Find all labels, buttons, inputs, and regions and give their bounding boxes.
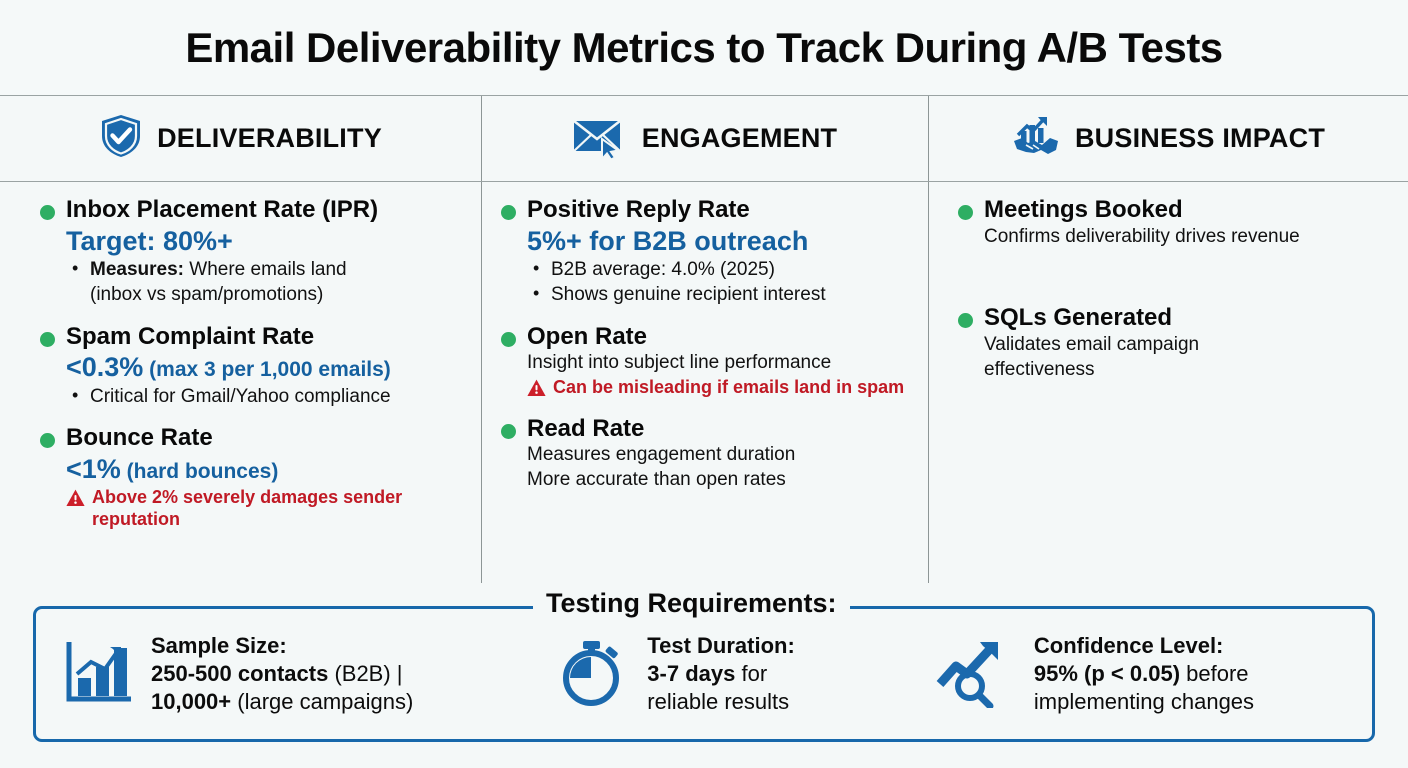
metric-value-note: (max 3 per 1,000 emails) [143,358,390,381]
metric-sub-text: Where emails land [184,259,347,280]
metric-title: Inbox Placement Rate (IPR) [66,196,463,224]
requirement-line1-bold: 95% (p < 0.05) [1034,661,1180,686]
metric-title: Open Rate [527,323,912,351]
column-deliverability: DELIVERABILITY Inbox Placement Rate (IPR… [0,96,481,583]
column-header-engagement: ENGAGEMENT [481,96,928,181]
column-body-deliverability: Inbox Placement Rate (IPR) Target: 80%+ … [0,182,481,531]
bar-chart-growth-icon [61,636,135,713]
metric-sub: Measures: Where emails land [66,259,463,282]
requirement-test-duration: Test Duration: 3-7 days for reliable res… [555,632,936,715]
metric-item: Inbox Placement Rate (IPR) Target: 80%+ … [40,196,463,307]
metric-item: Bounce Rate <1% (hard bounces) Above 2% … [40,424,463,530]
warning-triangle-icon [527,379,546,397]
metric-item: Open Rate Insight into subject line perf… [501,323,912,399]
requirement-line1-rest: (B2B) | [328,661,402,686]
metric-sub: Shows genuine recipient interest [527,284,912,307]
metric-sub: Measures engagement duration [527,444,912,467]
bullet-dot-icon [40,205,55,220]
metric-sub: Validates email campaign [984,334,1392,357]
column-business-impact: BUSINESS IMPACT Meetings Booked Confirms… [928,96,1408,583]
column-body-engagement: Positive Reply Rate 5%+ for B2B outreach… [481,182,928,492]
requirement-confidence-level: Confidence Level: 95% (p < 0.05) before … [936,632,1361,715]
panel-content: Sample Size: 250-500 contacts (B2B) | 10… [33,606,1375,742]
envelope-cursor-icon [572,113,628,164]
requirement-line1-rest: before [1180,661,1249,686]
requirement-line1-rest: for [735,661,767,686]
bullet-dot-icon [501,205,516,220]
requirement-heading: Confidence Level: [1034,632,1254,660]
metric-warning-text: Above 2% severely damages sender reputat… [92,487,463,530]
metric-item: Read Rate Measures engagement duration M… [501,415,912,492]
warning-triangle-icon [66,489,85,507]
metric-value: Target: 80%+ [66,225,463,257]
requirement-text: Sample Size: 250-500 contacts (B2B) | 10… [151,632,413,715]
metric-title: Positive Reply Rate [527,196,912,224]
metric-warning-text: Can be misleading if emails land in spam [553,377,904,399]
trend-magnifier-icon [936,636,1018,713]
metric-title: Bounce Rate [66,424,463,452]
bullet-dot-icon [958,205,973,220]
metric-title: Meetings Booked [984,196,1392,224]
metrics-columns: DELIVERABILITY Inbox Placement Rate (IPR… [0,96,1408,583]
requirement-line2-rest: implementing changes [1034,689,1254,714]
metric-value: <0.3% (max 3 per 1,000 emails) [66,351,463,383]
column-header-label: BUSINESS IMPACT [1075,123,1325,154]
requirement-text: Confidence Level: 95% (p < 0.05) before … [1034,632,1254,715]
column-body-business-impact: Meetings Booked Confirms deliverability … [928,182,1408,382]
bullet-dot-icon [40,332,55,347]
column-header-business-impact: BUSINESS IMPACT [928,96,1408,181]
metric-warning: Above 2% severely damages sender reputat… [66,487,463,530]
requirement-line1-bold: 250-500 contacts [151,661,328,686]
metric-title: SQLs Generated [984,304,1392,332]
page-header: Email Deliverability Metrics to Track Du… [0,0,1408,95]
column-header-label: ENGAGEMENT [642,123,838,154]
metric-item: Positive Reply Rate 5%+ for B2B outreach… [501,196,912,307]
requirement-heading: Sample Size: [151,632,413,660]
page-title: Email Deliverability Metrics to Track Du… [185,27,1222,69]
metric-item: Meetings Booked Confirms deliverability … [958,196,1392,248]
metric-sub: (inbox vs spam/promotions) [66,284,463,307]
shield-check-icon [99,113,143,164]
metric-sub: Confirms deliverability drives revenue [984,226,1392,249]
requirement-line1-bold: 3-7 days [647,661,735,686]
metric-value-main: <1% [66,454,121,484]
handshake-growth-icon [1011,112,1061,165]
requirement-line2-bold: 10,000+ [151,689,231,714]
metric-item: Spam Complaint Rate <0.3% (max 3 per 1,0… [40,323,463,409]
metric-value: 5%+ for B2B outreach [527,225,912,257]
metric-sub: More accurate than open rates [527,469,912,492]
metric-title: Read Rate [527,415,912,443]
requirement-heading: Test Duration: [647,632,794,660]
metric-value-main: <0.3% [66,352,143,382]
requirement-line2-rest: reliable results [647,689,789,714]
metric-sub: Insight into subject line performance [527,352,912,375]
bullet-dot-icon [958,313,973,328]
testing-requirements-panel: Testing Requirements: Sample Size: 250-5… [33,606,1375,742]
metric-sub: effectiveness [984,359,1392,382]
metric-item: SQLs Generated Validates email campaign … [958,304,1392,381]
column-header-label: DELIVERABILITY [157,123,382,154]
metric-value: <1% (hard bounces) [66,453,463,485]
bullet-dot-icon [40,433,55,448]
bullet-dot-icon [501,424,516,439]
metric-warning: Can be misleading if emails land in spam [527,377,912,399]
stopwatch-icon [555,635,631,714]
metric-sub: B2B average: 4.0% (2025) [527,259,912,282]
column-header-deliverability: DELIVERABILITY [0,96,481,181]
metric-sub: Critical for Gmail/Yahoo compliance [66,386,463,409]
metric-value-note: (hard bounces) [121,460,279,483]
requirement-line2-rest: (large campaigns) [231,689,413,714]
requirement-sample-size: Sample Size: 250-500 contacts (B2B) | 10… [61,632,555,715]
column-engagement: ENGAGEMENT Positive Reply Rate 5%+ for B… [481,96,928,583]
requirement-text: Test Duration: 3-7 days for reliable res… [647,632,794,715]
metric-title: Spam Complaint Rate [66,323,463,351]
metric-sub-label: Measures: [90,259,184,280]
bullet-dot-icon [501,332,516,347]
